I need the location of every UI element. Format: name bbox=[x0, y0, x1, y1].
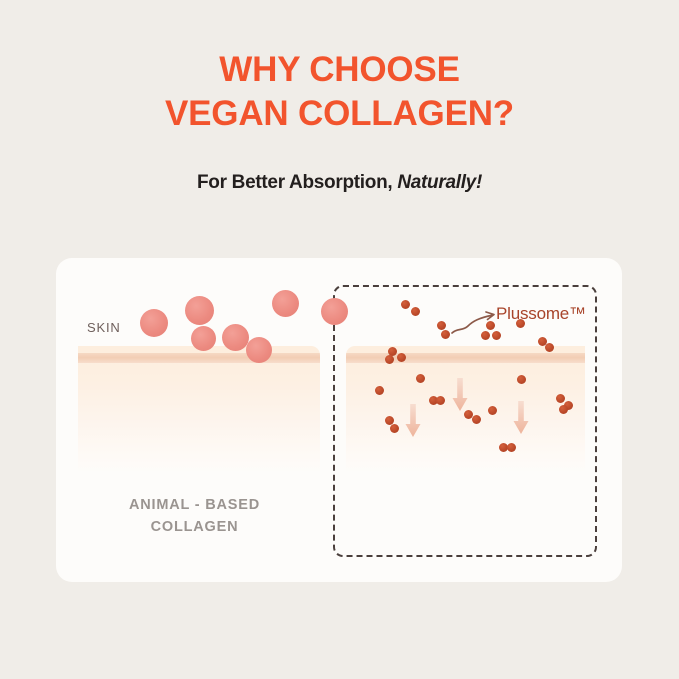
plant-caption-line-1: PLANT - BASED bbox=[610, 494, 679, 516]
plant-based-panel: Plussome™ PLANT - BASED COLLAGEN bbox=[333, 258, 622, 582]
plant-collagen-dot bbox=[397, 353, 406, 362]
animal-caption-line-2: COLLAGEN bbox=[56, 516, 333, 538]
curved-arrow-icon bbox=[449, 308, 499, 338]
skin-cross-section-animal bbox=[78, 346, 320, 474]
plant-collagen-dot bbox=[436, 396, 445, 405]
skin-dermis-layer bbox=[78, 346, 320, 474]
plant-collagen-dot bbox=[437, 321, 446, 330]
plant-collagen-dot bbox=[559, 405, 568, 414]
down-arrow-icon bbox=[405, 404, 421, 438]
headline-line-1: WHY CHOOSE bbox=[0, 48, 679, 92]
animal-based-panel: SKIN ANIMAL - BASED COLLAGEN bbox=[56, 258, 333, 582]
plant-collagen-dot bbox=[488, 406, 497, 415]
plant-collagen-dot bbox=[507, 443, 516, 452]
animal-collagen-blob bbox=[246, 337, 272, 363]
plant-collagen-dot bbox=[375, 386, 384, 395]
skin-surface-line bbox=[346, 353, 585, 363]
animal-collagen-blob bbox=[185, 296, 214, 325]
skin-label: SKIN bbox=[87, 320, 121, 335]
plant-collagen-dot bbox=[416, 374, 425, 383]
comparison-card: SKIN ANIMAL - BASED COLLAGEN Plussome™ P… bbox=[56, 258, 622, 582]
plant-collagen-dot bbox=[385, 355, 394, 364]
animal-collagen-blob bbox=[140, 309, 168, 337]
plant-collagen-dot bbox=[390, 424, 399, 433]
plant-collagen-dot bbox=[401, 300, 410, 309]
plant-caption-line-2: COLLAGEN bbox=[610, 516, 679, 538]
plussome-label: Plussome™ bbox=[496, 304, 586, 324]
subtitle-emphasis: Naturally! bbox=[397, 172, 482, 193]
page-subtitle: For Better Absorption, Naturally! bbox=[0, 172, 679, 194]
animal-collagen-blob bbox=[222, 324, 249, 351]
plant-collagen-dot bbox=[545, 343, 554, 352]
plant-collagen-dot bbox=[517, 375, 526, 384]
plant-based-caption: PLANT - BASED COLLAGEN bbox=[610, 494, 679, 539]
down-arrow-icon bbox=[452, 378, 468, 412]
animal-based-caption: ANIMAL - BASED COLLAGEN bbox=[56, 494, 333, 539]
plant-collagen-dot bbox=[411, 307, 420, 316]
animal-collagen-blob bbox=[191, 326, 216, 351]
skin-surface-line bbox=[78, 353, 320, 363]
plant-collagen-dot bbox=[556, 394, 565, 403]
down-arrow-icon bbox=[513, 401, 529, 435]
plant-collagen-dot bbox=[472, 415, 481, 424]
animal-caption-line-1: ANIMAL - BASED bbox=[56, 494, 333, 516]
page-title: WHY CHOOSE VEGAN COLLAGEN? bbox=[0, 48, 679, 137]
subtitle-text: For Better Absorption, bbox=[197, 172, 397, 193]
headline-line-2: VEGAN COLLAGEN? bbox=[0, 92, 679, 136]
animal-collagen-blob bbox=[272, 290, 299, 317]
